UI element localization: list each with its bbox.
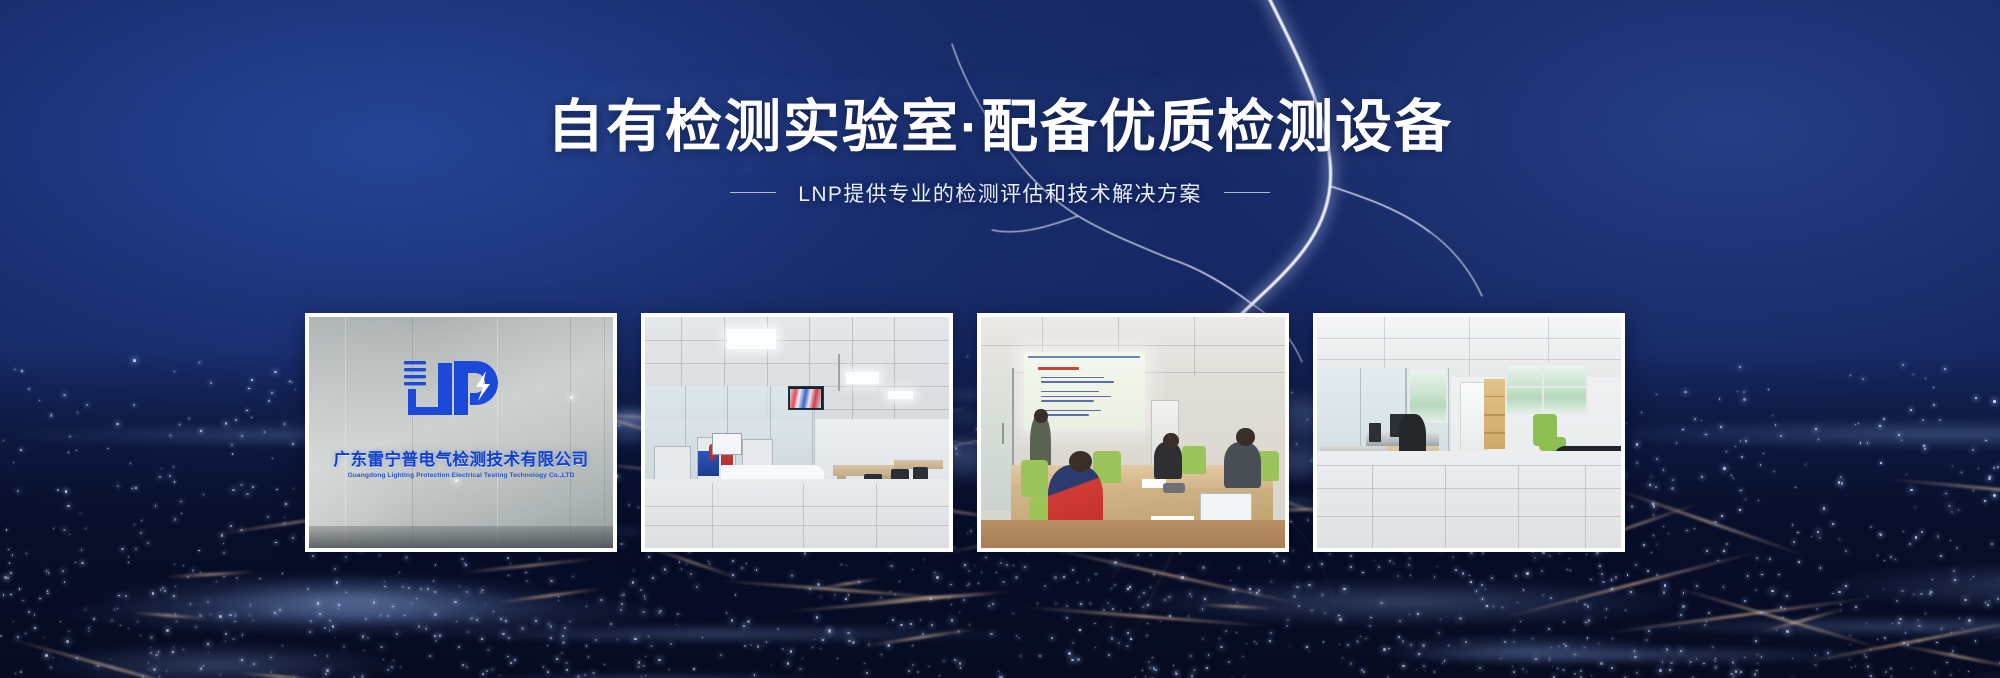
wall-monitor (788, 386, 824, 410)
subtitle-row: LNP提供专业的检测评估和技术解决方案 (730, 178, 1269, 208)
photo-company-signage: 广东雷宁普电气检测技术有限公司 Guangdong Lighting Prote… (309, 317, 613, 548)
lnp-logo-icon (402, 355, 520, 417)
gallery-item-high-voltage-lab[interactable] (641, 313, 953, 552)
signage-company-en: Guangdong Lighting Protection Electrical… (348, 472, 575, 479)
photo-high-voltage-lab (645, 317, 949, 548)
rule-right-icon (1224, 192, 1270, 193)
photo-training-meeting-room (981, 317, 1285, 548)
gallery-item-training-meeting-room[interactable] (977, 313, 1289, 552)
gallery-item-company-signage[interactable]: 广东雷宁普电气检测技术有限公司 Guangdong Lighting Prote… (305, 313, 617, 552)
page-title: 自有检测实验室·配备优质检测设备 (547, 96, 1453, 160)
glass-sheen (309, 317, 472, 548)
photo-engineering-office (1317, 317, 1621, 548)
rule-left-icon (730, 192, 776, 193)
hero-text-block: 自有检测实验室·配备优质检测设备 LNP提供专业的检测评估和技术解决方案 (0, 96, 2000, 208)
page-subtitle: LNP提供专业的检测评估和技术解决方案 (798, 178, 1201, 208)
hero-banner: 自有检测实验室·配备优质检测设备 LNP提供专业的检测评估和技术解决方案 (0, 0, 2000, 678)
signage-company-cn: 广东雷宁普电气检测技术有限公司 (334, 446, 589, 470)
gallery-item-engineering-office[interactable] (1313, 313, 1625, 552)
gallery-strip: 广东雷宁普电气检测技术有限公司 Guangdong Lighting Prote… (305, 313, 1625, 552)
bookshelf (1484, 379, 1505, 448)
